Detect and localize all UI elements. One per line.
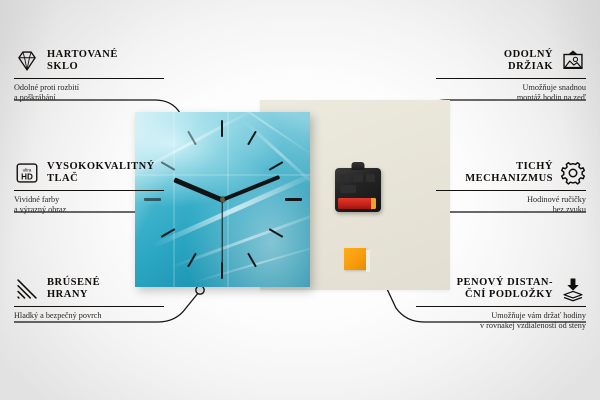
feature-description: Umožňuje vám držať hodiny v rovnakej vzd… (416, 311, 586, 332)
mechanism-detail (353, 174, 363, 182)
svg-text:HD: HD (21, 173, 33, 182)
mechanism-hanger-hook (352, 162, 365, 170)
product-photo (130, 100, 450, 300)
press-layers-icon (560, 276, 586, 302)
clock-battery (338, 198, 376, 209)
feature-polished-edges[interactable]: BRÚSENÉ HRANY Hladký a bezpečný povrch (14, 276, 164, 321)
infographic-canvas: HARTOVANÉ SKLO Odolné proti rozbití a po… (0, 0, 600, 400)
feature-description: Vividné farby a výrazný obraz (14, 195, 164, 216)
feature-silent-mechanism[interactable]: TICHÝ MECHANIZMUS Hodinové ručičky bez z… (436, 160, 586, 215)
divider (14, 78, 164, 79)
divider (14, 306, 164, 307)
clock-tick (221, 120, 223, 137)
clock-mechanism (335, 168, 381, 212)
feature-high-quality-print[interactable]: ultra HD VYSOKOKVALITNÝ TLAČ Vividné far… (14, 160, 164, 215)
feature-description: Hodinové ručičky bez zvuku (436, 195, 586, 216)
foam-spacer-pad (344, 248, 366, 270)
feature-durable-hanger[interactable]: ODOLNÝ DRŽIAK Umožňuje snadnou montáž ho… (436, 48, 586, 103)
feature-title: PENOVÝ DISTAN- ČNÍ PODLOŽKY (457, 277, 553, 302)
glass-reflection-line (173, 112, 175, 287)
feature-header: BRÚSENÉ HRANY (14, 276, 164, 302)
feature-description: Hladký a bezpečný povrch (14, 311, 164, 321)
clock-tick (285, 198, 302, 201)
feature-description: Umožňuje snadnou montáž hodin na zeď (436, 83, 586, 104)
mechanism-detail (366, 174, 375, 182)
feature-tempered-glass[interactable]: HARTOVANÉ SKLO Odolné proti rozbití a po… (14, 48, 164, 103)
clock-hour-hand (173, 178, 223, 202)
clock-center-hub (220, 197, 225, 202)
gear-icon (560, 160, 586, 186)
svg-text:ultra: ultra (23, 167, 32, 172)
clock-tick (247, 131, 257, 146)
feature-header: ultra HD VYSOKOKVALITNÝ TLAČ (14, 160, 164, 186)
clock-tick (269, 161, 284, 171)
feature-title: ODOLNÝ DRŽIAK (504, 49, 553, 74)
feature-header: TICHÝ MECHANIZMUS (436, 160, 586, 186)
mechanism-detail (340, 174, 350, 182)
feather-streak (192, 243, 310, 284)
divider (14, 190, 164, 191)
feature-header: HARTOVANÉ SKLO (14, 48, 164, 74)
battery-terminal (371, 198, 376, 209)
feature-description: Odolné proti rozbití a poškrábání (14, 83, 164, 104)
feature-title: HARTOVANÉ SKLO (47, 49, 118, 74)
feature-title: BRÚSENÉ HRANY (47, 277, 100, 302)
divider (436, 190, 586, 191)
divider (416, 306, 586, 307)
foam-pad-edge (366, 250, 370, 272)
feature-title: VYSOKOKVALITNÝ TLAČ (47, 161, 155, 186)
feature-title: TICHÝ MECHANIZMUS (465, 161, 553, 186)
picture-frame-icon (560, 48, 586, 74)
ultra-hd-icon: ultra HD (14, 160, 40, 186)
mechanism-detail (340, 185, 356, 193)
clock-minute-hand (221, 175, 280, 202)
divider (436, 78, 586, 79)
brushed-edges-icon (14, 276, 40, 302)
feature-header: PENOVÝ DISTAN- ČNÍ PODLOŽKY (416, 276, 586, 302)
feature-header: ODOLNÝ DRŽIAK (436, 48, 586, 74)
diamond-icon (14, 48, 40, 74)
feature-foam-spacers[interactable]: PENOVÝ DISTAN- ČNÍ PODLOŽKY Umožňuje vám… (416, 276, 586, 331)
clock-second-hand (221, 200, 222, 270)
